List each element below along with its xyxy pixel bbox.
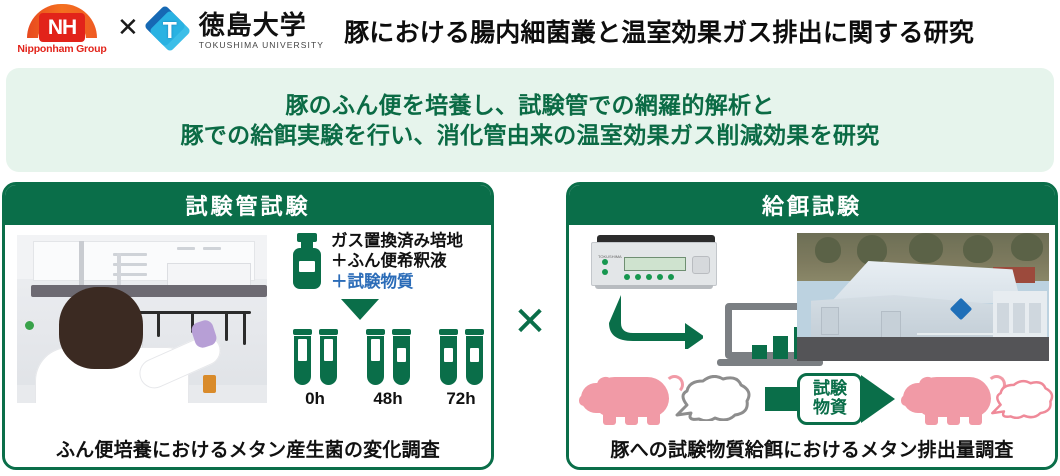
annex-door [1029, 303, 1041, 333]
test-tube-icon [439, 329, 458, 385]
tube-label-0h: 0h [305, 389, 325, 409]
panel-right-footer: 豚への試験物質給餌におけるメタン排出量調査 [569, 429, 1055, 467]
summary-line-1: 豚のふん便を培養し、試験管での網羅的解析と [285, 90, 774, 120]
analyzer-brand-text: TOKUSHIMA [598, 254, 622, 259]
medium-line-2: ＋ふん便希釈液 [331, 251, 463, 271]
lab-slit-5 [203, 247, 221, 250]
barn-fence [917, 333, 1047, 349]
tube-label-72h: 72h [446, 389, 475, 409]
test-tube-icon [366, 329, 385, 385]
logo-separator-x-icon: ✕ [117, 14, 139, 48]
panel-right-header-label: 給餌試験 [762, 189, 862, 221]
test-tube-icon [465, 329, 484, 385]
treatment-chip-line-1: 試験 [813, 380, 847, 399]
nipponham-mark-icon: NH [27, 4, 97, 42]
test-tube-icon [319, 329, 338, 385]
analyzer-button [657, 274, 663, 280]
panel-right-body: TOKUSHIMA [569, 225, 1055, 429]
tokushima-mark-letter: T [148, 7, 192, 55]
treatment-chip-line-2: 物資 [813, 399, 847, 418]
lab-tube-v4 [243, 311, 246, 345]
medium-line-1: ガス置換済み培地 [331, 231, 463, 251]
lab-amber-bottle [203, 375, 216, 393]
barn-door-1 [821, 307, 839, 335]
analyzer-button [602, 259, 608, 265]
pig-research-barn-photo [797, 233, 1049, 361]
gas-analyzer-icon: TOKUSHIMA [591, 235, 717, 291]
researcher-head [59, 287, 143, 369]
analyzer-dpad [692, 256, 710, 274]
test-tube-icon [392, 329, 411, 385]
panel-left-footer: ふん便培養におけるメタン産生菌の変化調査 [5, 429, 491, 467]
fume-hood-rail [31, 285, 267, 297]
tube-pair [293, 329, 338, 385]
tube-group-48h: 48h [358, 329, 418, 421]
annex-door [1013, 303, 1025, 333]
analyzer-face: TOKUSHIMA [591, 242, 717, 286]
panel-left-header: 試験管試験 [5, 185, 491, 225]
lab-tube-v1 [157, 311, 160, 337]
medium-line-3: ＋試験物質 [331, 272, 463, 292]
panel-left-footer-label: ふん便培養におけるメタン産生菌の変化調査 [56, 435, 440, 462]
panel-separator-x-icon: ✕ [508, 300, 552, 344]
down-arrow-icon [341, 299, 379, 320]
vial-cap [297, 233, 317, 242]
tube-group-72h: 72h [431, 329, 491, 421]
analyzer-screen [624, 257, 686, 271]
analyzer-button [635, 274, 641, 280]
nipponham-logo: NH Nipponham Group [14, 4, 110, 58]
tokushima-mark-icon: T [148, 7, 192, 55]
panel-feeding-test: 給餌試験 TOKUSHIMA [566, 182, 1058, 470]
nipponham-wordmark: Nipponham Group [17, 43, 106, 55]
barn-tree [1011, 233, 1043, 261]
pig-icon-after [903, 373, 999, 423]
infographic-page: NH Nipponham Group ✕ T 徳島大学 TOKUSHIMA UN… [0, 0, 1060, 476]
test-tube-icon [293, 329, 312, 385]
lab-pole-2 [117, 253, 121, 289]
lab-tube-v3 [225, 311, 228, 341]
barn-tree [909, 233, 943, 263]
analyzer-base [595, 285, 713, 289]
test-tube-timepoints: 0h 48h [285, 329, 491, 421]
barn-tree [815, 237, 841, 263]
vial-label-patch [299, 261, 315, 272]
tube-label-48h: 48h [373, 389, 402, 409]
gas-cloud-gray-icon [673, 375, 751, 421]
lab-indicator-light [25, 321, 34, 330]
culture-medium-text: ガス置換済み培地 ＋ふん便希釈液 ＋試験物質 [331, 231, 463, 292]
lab-researcher-photo [17, 235, 267, 403]
panel-left-header-label: 試験管試験 [185, 189, 310, 221]
tokushima-wordmark: 徳島大学 TOKUSHIMA UNIVERSITY [199, 12, 324, 50]
culture-medium-block: ガス置換済み培地 ＋ふん便希釈液 ＋試験物質 [289, 231, 487, 295]
tokushima-name-en: TOKUSHIMA UNIVERSITY [199, 40, 324, 50]
analyzer-button [624, 274, 630, 280]
analyzer-button [646, 274, 652, 280]
barn-annex [993, 291, 1047, 339]
lab-pole-1 [79, 241, 84, 289]
lab-slit-4 [177, 247, 195, 250]
barn-door-2 [881, 311, 901, 339]
header: NH Nipponham Group ✕ T 徳島大学 TOKUSHIMA UN… [0, 0, 1060, 62]
tokushima-university-logo: T 徳島大学 TOKUSHIMA UNIVERSITY [148, 7, 324, 55]
barn-tree [963, 235, 993, 263]
barn-tree [857, 235, 887, 265]
panel-in-vitro-test: 試験管試験 [2, 182, 494, 470]
panel-right-header: 給餌試験 [569, 185, 1055, 225]
pig-icon-before [581, 373, 677, 423]
culture-vial-icon [291, 233, 323, 291]
nipponham-mark-letters: NH [39, 13, 85, 42]
summary-banner: 豚のふん便を培養し、試験管での網羅的解析と 豚での給餌実験を行い、消化管由来の温… [6, 68, 1054, 172]
page-title: 豚における腸内細菌叢と温室効果ガス排出に関する研究 [344, 13, 974, 49]
hook-arrow-right-icon [607, 295, 703, 349]
tube-pair [439, 329, 484, 385]
summary-line-2: 豚での給餌実験を行い、消化管由来の温室効果ガス削減効果を研究 [181, 120, 880, 150]
analyzer-button [602, 269, 608, 275]
panel-right-footer-label: 豚への試験物質給餌におけるメタン排出量調査 [610, 435, 1013, 462]
pig-comparison-row: 試験 物資 [577, 373, 1053, 427]
annex-door [997, 303, 1009, 333]
gas-cloud-pink-icon [989, 379, 1055, 419]
tube-group-0h: 0h [285, 329, 345, 421]
panel-left-body: ガス置換済み培地 ＋ふん便希釈液 ＋試験物質 [5, 225, 491, 429]
treatment-chip: 試験 物資 [797, 373, 863, 425]
analyzer-button [668, 274, 674, 280]
tube-pair [366, 329, 411, 385]
tokushima-name-jp: 徳島大学 [199, 12, 324, 39]
treatment-arrow: 試験 物資 [765, 375, 895, 423]
